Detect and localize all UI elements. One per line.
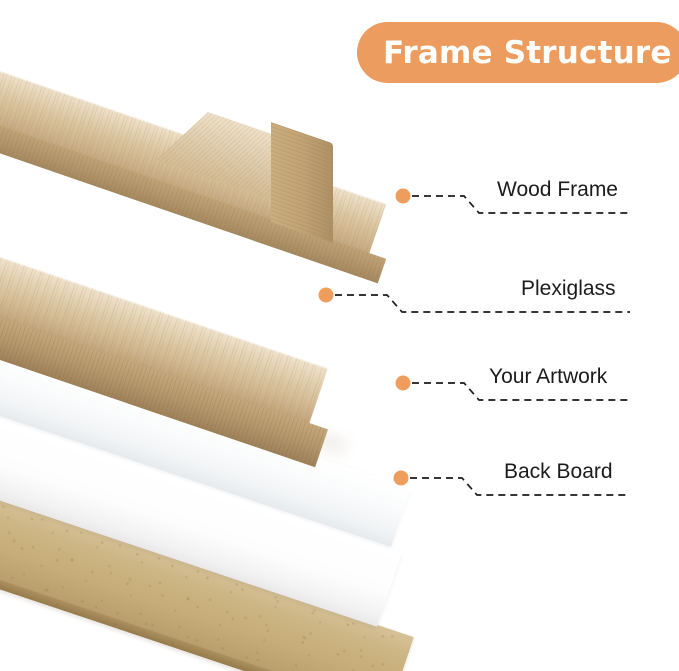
callout-label-back-board: Back Board — [504, 460, 613, 484]
leader-lines — [0, 0, 679, 671]
callout-label-your-artwork: Your Artwork — [489, 365, 607, 389]
callout-label-wood-frame: Wood Frame — [497, 178, 618, 202]
callout-dot-your-artwork — [396, 376, 411, 391]
callout-dot-wood-frame — [396, 189, 411, 204]
callout-label-plexiglass: Plexiglass — [521, 277, 616, 301]
frame-structure-infographic: Frame Structure Wood Frame Plexiglass Yo… — [0, 0, 679, 671]
callout-layer: Wood Frame Plexiglass Your Artwork Back … — [0, 0, 679, 671]
callout-dot-back-board — [394, 471, 409, 486]
callout-dot-plexiglass — [319, 288, 334, 303]
